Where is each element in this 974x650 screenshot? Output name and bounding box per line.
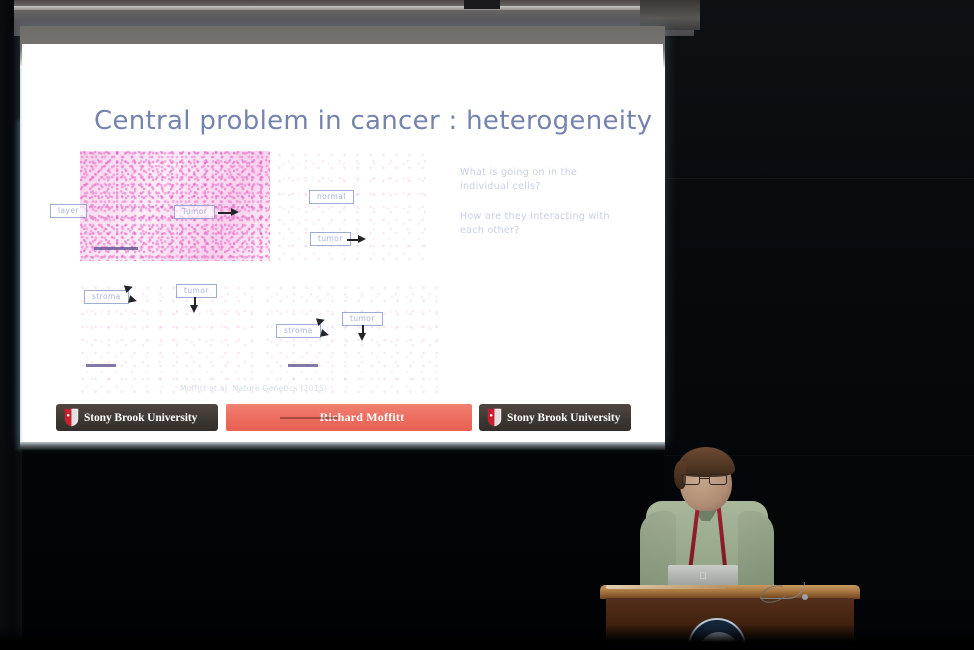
histology-panel-bottom-right — [265, 284, 440, 394]
glasses-bridge — [700, 478, 709, 479]
callout-tumor-bottom-right: tumor — [342, 312, 383, 326]
apple-logo-icon:  — [699, 572, 707, 581]
logo-text-left: Stony Brook University — [84, 412, 197, 424]
presentation-slide: Central problem in cancer : heterogeneit… — [22, 44, 663, 440]
glasses-lens-right — [709, 474, 727, 485]
arrow-head-tumor-tr — [358, 235, 366, 243]
scale-bar-bottom-right — [288, 364, 318, 367]
arrow-line-tumor-main — [218, 212, 232, 214]
name-bar-rule — [280, 417, 338, 419]
wall-seam-upper — [664, 178, 974, 179]
arrow-head-tumor-main — [231, 208, 239, 216]
callout-layer: layer — [50, 204, 87, 218]
callout-stroma-bottom-left: stroma — [84, 290, 129, 304]
question-one: What is going on in the individual cells… — [460, 166, 610, 195]
callout-normal: normal — [309, 190, 354, 204]
logo-text-right: Stony Brook University — [507, 412, 620, 424]
arrow-head-tumor-bl — [190, 305, 198, 313]
slide-citation: Moffitt et al. Nature Genetics (2015) — [180, 384, 327, 393]
callout-stroma-bottom-right: stroma — [276, 324, 321, 338]
stage-floor — [0, 624, 974, 650]
histology-panel-top-right — [277, 151, 427, 261]
callout-tumor-bottom-left: tumor — [176, 284, 217, 298]
glasses-icon — [682, 474, 730, 485]
slide-footer: Stony Brook University Richard Moffitt — [22, 404, 663, 434]
laptop-lid:  — [668, 565, 738, 587]
shield-crest-icon-right — [487, 408, 502, 427]
presenter-name-bar: Richard Moffitt — [226, 404, 472, 431]
arrow-head-tumor-br — [358, 333, 366, 341]
question-two: How are they interacting with each other… — [460, 210, 620, 239]
logo-plate-right: Stony Brook University — [479, 404, 631, 431]
valance-highlight — [14, 6, 694, 10]
logo-plate-left: Stony Brook University — [56, 404, 218, 431]
slide-title: Central problem in cancer : heterogeneit… — [94, 106, 653, 136]
screen-bottom-bar — [20, 442, 665, 450]
lecture-hall-scene: Central problem in cancer : heterogeneit… — [0, 0, 974, 650]
valance-notch — [464, 0, 500, 9]
microphone-head-icon — [802, 594, 808, 600]
callout-tumor-top-right: tumor — [310, 232, 351, 246]
podium-top-surface — [600, 585, 860, 599]
callout-tumor-main: Tumor — [174, 205, 215, 219]
scale-bar-bottom-left — [86, 364, 116, 367]
podium-top-highlight — [606, 585, 726, 589]
scale-bar-main — [94, 247, 138, 250]
glasses-lens-left — [682, 474, 700, 485]
shield-crest-icon — [64, 408, 79, 427]
